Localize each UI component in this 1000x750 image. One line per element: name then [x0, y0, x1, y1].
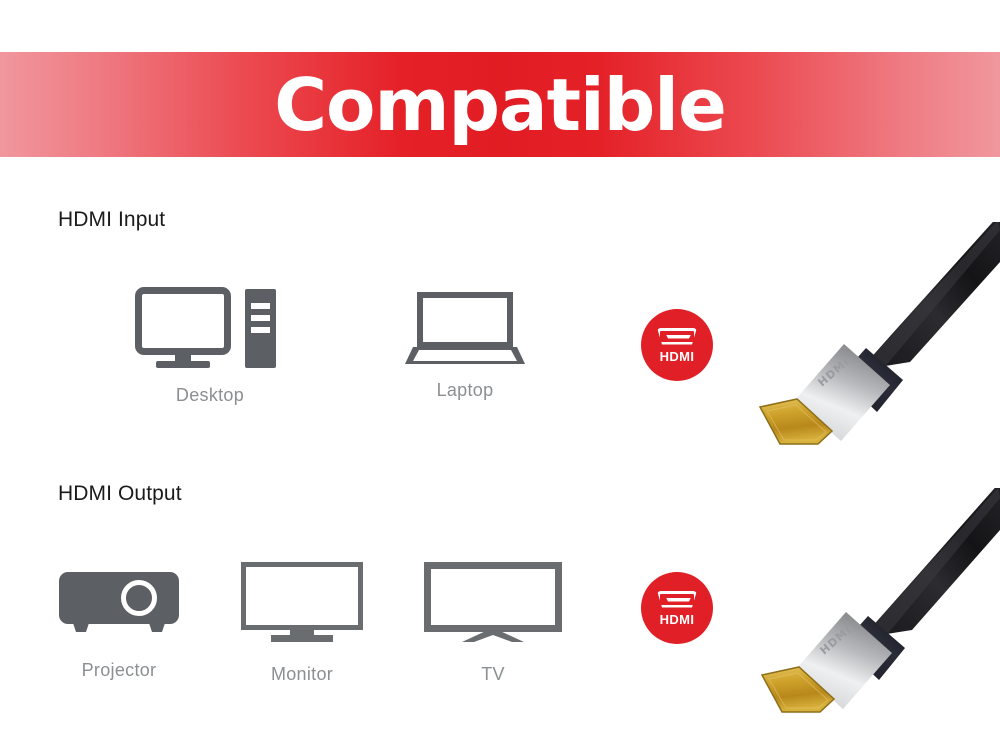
desktop-computer-icon	[135, 287, 285, 367]
projector-lens-shape	[121, 580, 157, 616]
monitor-screen-shape	[241, 562, 363, 630]
laptop-screen-shape	[417, 292, 513, 348]
device-item-projector: Projector	[40, 572, 198, 681]
hdmi-connector-icon	[657, 328, 697, 345]
device-label-projector: Projector	[40, 660, 198, 681]
device-item-desktop: Desktop	[120, 287, 300, 406]
hdmi-badge-input: HDMI	[641, 309, 713, 381]
projector-foot	[149, 623, 165, 632]
device-item-tv: TV	[420, 562, 566, 685]
hdmi-cable-illustration: HDMI	[740, 488, 1000, 713]
compatibility-infographic: Compatible HDMI Input Desktop Laptop HDM…	[0, 0, 1000, 750]
cable-highlight	[873, 222, 1000, 369]
section-heading-hdmi-output: HDMI Output	[58, 482, 182, 506]
hdmi-badge-output: HDMI	[641, 572, 713, 644]
laptop-keyboard-shape	[405, 350, 525, 361]
cable-highlight	[875, 488, 1000, 637]
desktop-monitor-shape	[135, 287, 231, 355]
projector-foot	[73, 623, 89, 632]
device-label-laptop: Laptop	[390, 380, 540, 401]
page-title: Compatible	[274, 69, 726, 141]
tower-slot	[251, 303, 270, 309]
desktop-monitor-base	[156, 361, 210, 368]
device-item-laptop: Laptop	[390, 292, 540, 401]
hdmi-cable-photo-output: HDMI	[740, 488, 1000, 713]
tower-slot	[251, 327, 270, 333]
projector-body-shape	[59, 572, 179, 624]
projector-icon	[59, 572, 179, 636]
hdmi-badge-label: HDMI	[660, 613, 695, 626]
hdmi-connector-icon	[657, 591, 697, 608]
monitor-base-shape	[271, 635, 333, 642]
hdmi-cable-illustration: HDMI	[740, 222, 1000, 447]
device-label-tv: TV	[420, 664, 566, 685]
device-label-monitor: Monitor	[232, 664, 372, 685]
device-label-desktop: Desktop	[120, 385, 300, 406]
monitor-icon	[241, 562, 363, 640]
section-heading-hdmi-input: HDMI Input	[58, 208, 165, 232]
header-banner: Compatible	[0, 52, 1000, 157]
desktop-tower-shape	[245, 289, 276, 368]
laptop-icon	[405, 292, 525, 364]
device-item-monitor: Monitor	[232, 562, 372, 685]
hdmi-cable-photo-input: HDMI	[740, 222, 1000, 447]
tower-slot	[251, 315, 270, 321]
hdmi-badge-label: HDMI	[660, 350, 695, 363]
tv-screen-shape	[424, 562, 562, 632]
television-icon	[424, 562, 562, 642]
